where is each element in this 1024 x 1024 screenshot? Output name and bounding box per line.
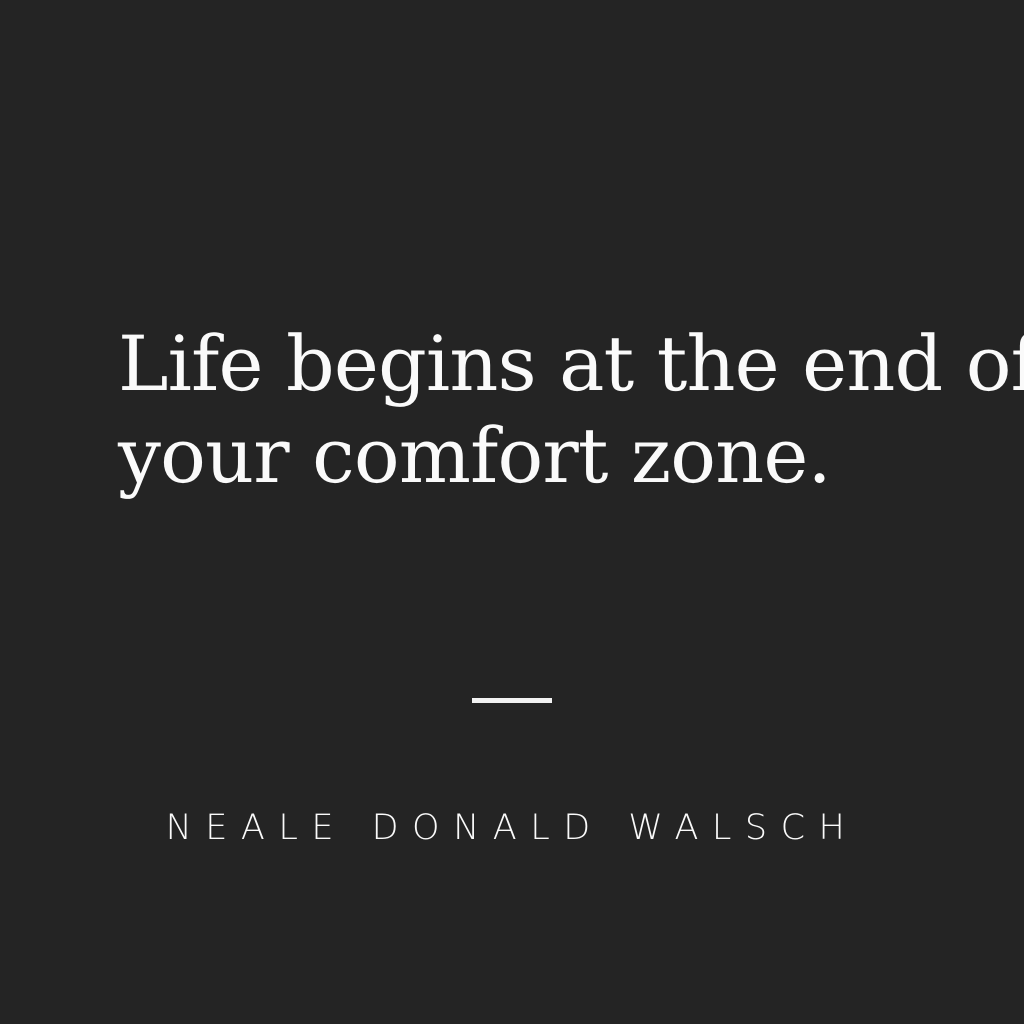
quote-line-2: your comfort zone. xyxy=(118,410,908,502)
divider-rule-icon xyxy=(472,698,552,703)
attribution-container: NEALE DONALD WALSCH xyxy=(0,806,1024,850)
quote-text-block: Life begins at the end of your comfort z… xyxy=(118,318,908,502)
author-name: NEALE DONALD WALSCH xyxy=(152,806,858,850)
quote-line-1: Life begins at the end of xyxy=(118,318,908,410)
quote-card: Life begins at the end of your comfort z… xyxy=(0,0,1024,1024)
divider-container xyxy=(0,698,1024,703)
